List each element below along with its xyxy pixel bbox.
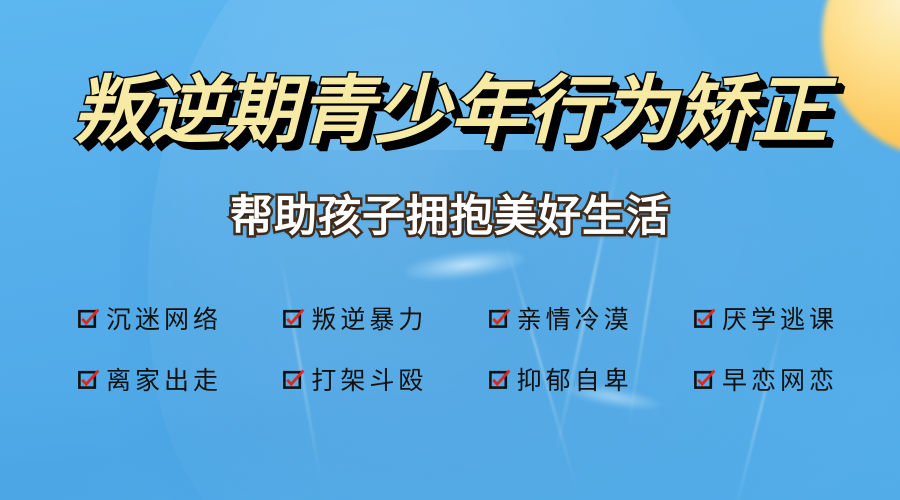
checklist-item[interactable]: 亲情冷漠 xyxy=(489,300,633,336)
checklist-row: 沉迷网络 叛逆暴力 亲情冷漠 xyxy=(78,296,838,340)
sub-title-text: 帮助孩子拥抱美好生活 xyxy=(230,196,670,239)
checklist-item-label: 叛逆暴力 xyxy=(309,300,427,336)
main-title-text: 叛逆期青少年行为矫正 xyxy=(73,74,828,148)
checkbox-checked-icon[interactable] xyxy=(489,307,511,329)
promo-banner: 叛逆期青少年行为矫正 帮助孩子拥抱美好生活 沉迷网络 xyxy=(0,0,900,500)
page-title: 叛逆期青少年行为矫正 xyxy=(0,74,900,148)
checkbox-checked-icon[interactable] xyxy=(283,307,305,329)
checklist-item-label: 厌学逃课 xyxy=(720,300,838,336)
checklist-item[interactable]: 叛逆暴力 xyxy=(283,300,427,336)
checklist-item-label: 沉迷网络 xyxy=(104,300,222,336)
checklist-item[interactable]: 厌学逃课 xyxy=(694,300,838,336)
checkbox-checked-icon[interactable] xyxy=(694,307,716,329)
page-subtitle: 帮助孩子拥抱美好生活 xyxy=(0,196,900,239)
checkbox-checked-icon[interactable] xyxy=(78,307,100,329)
checklist-item-label: 亲情冷漠 xyxy=(515,300,633,336)
bottom-gradient-band xyxy=(0,380,900,500)
checklist-item[interactable]: 沉迷网络 xyxy=(78,300,222,336)
